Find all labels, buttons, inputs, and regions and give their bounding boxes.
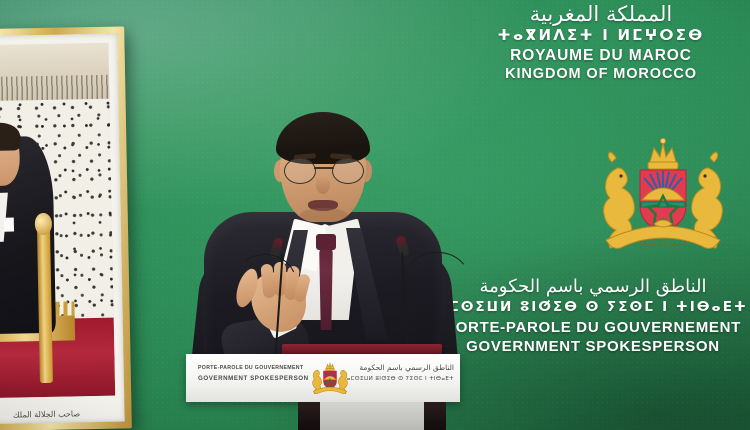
backdrop-lower-text: الناطق الرسمي باسم الحكومة ⴰⵎⵙⵉⵡⵍ ⵓⵏⵚⵉⴱ …: [436, 276, 750, 356]
lower-tifinagh-line: ⴰⵎⵙⵉⵡⵍ ⵓⵏⵚⵉⴱ ⵙ ⵢⵉⵙⵎ ⵏ ⵜⵏⴱⴰⴹⵜ: [436, 298, 750, 316]
speaker-hair: [276, 112, 370, 164]
header-tifinagh-line: ⵜⴰⴳⵍⴷⵉⵜ ⵏ ⵍⵎⵖⵔⵉⴱ: [452, 26, 750, 45]
podium: PORTE-PAROLE DU GOUVERNEMENT GOVERNMENT …: [186, 352, 460, 430]
lower-french-line: PORTE-PAROLE DU GOUVERNEMENT: [436, 318, 750, 337]
lower-arabic-line: الناطق الرسمي باسم الحكومة: [436, 276, 750, 298]
plaque-arabic-text: الناطق الرسمي باسم الحكومة ⴰⵎⵙⵉⵡⵍ ⵓⵏⵚⵉⴱ …: [336, 362, 454, 385]
header-arabic-line: المملكة المغربية: [452, 2, 750, 26]
plaque-arabic-line: الناطق الرسمي باسم الحكومة: [336, 362, 454, 374]
header-english-line: KINGDOM OF MOROCCO: [452, 65, 750, 83]
podium-lower-panel: [320, 402, 424, 430]
eyeglass-bridge: [314, 167, 334, 169]
portrait-image: [0, 43, 115, 399]
portrait-mat: صاحب الجلالة الملك: [0, 34, 125, 425]
coat-of-arms-icon: إن تنصروا الله ينصركم: [588, 128, 738, 268]
plaque-french-line: PORTE-PAROLE DU GOUVERNEMENT: [198, 363, 318, 373]
portrait-pocket-square: [4, 218, 14, 232]
podium-leg-right: [424, 402, 446, 430]
portrait-throne-finial: [35, 213, 52, 234]
plaque-english-line: GOVERNMENT SPOKESPERSON: [198, 373, 318, 385]
portrait-cornice: [0, 43, 110, 106]
speaker-nose: [316, 176, 330, 194]
eyeglass-lens-right: [332, 158, 364, 184]
press-conference-photo: المملكة المغربية ⵜⴰⴳⵍⴷⵉⵜ ⵏ ⵍⵎⵖⵔⵉⴱ ROYAUM…: [0, 0, 750, 430]
plaque-tifinagh-line: ⴰⵎⵙⵉⵡⵍ ⵓⵏⵚⵉⴱ ⵙ ⵢⵉⵙⵎ ⵏ ⵜⵏⴱⴰⴹⵜ: [336, 374, 454, 385]
backdrop-header-text: المملكة المغربية ⵜⴰⴳⵍⴷⵉⵜ ⵏ ⵍⵎⵖⵔⵉⴱ ROYAUM…: [452, 2, 750, 83]
plaque-latin-text: PORTE-PAROLE DU GOUVERNEMENT GOVERNMENT …: [198, 363, 318, 385]
podium-front-plaque: PORTE-PAROLE DU GOUVERNEMENT GOVERNMENT …: [186, 354, 460, 402]
eyeglass-lens-left: [284, 158, 316, 184]
framed-royal-portrait: صاحب الجلالة الملك: [0, 26, 132, 430]
portrait-caption: صاحب الجلالة الملك: [0, 408, 125, 420]
svg-text:إن تنصروا الله ينصركم: إن تنصروا الله ينصركم: [640, 241, 687, 247]
header-french-line: ROYAUME DU MAROC: [452, 46, 750, 65]
podium-leg-left: [298, 402, 320, 430]
lower-english-line: GOVERNMENT SPOKESPERSON: [436, 337, 750, 356]
speaker-chin: [300, 208, 348, 222]
